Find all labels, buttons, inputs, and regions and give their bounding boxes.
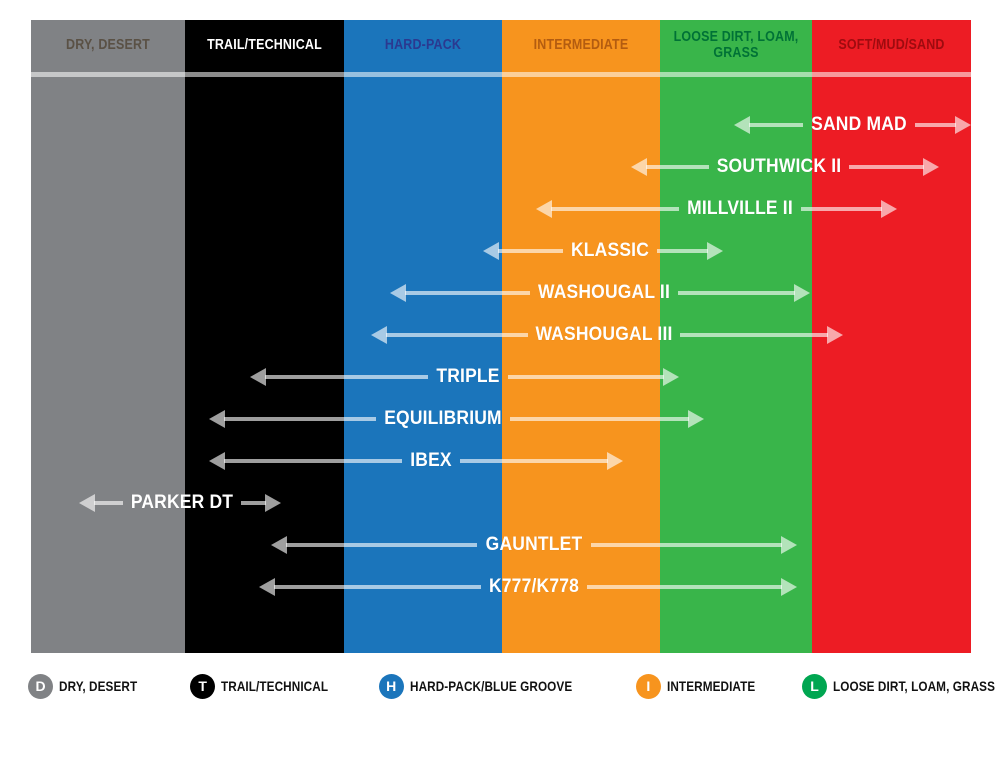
arrow-shaft-left: [551, 207, 679, 211]
tire-range-row: WASHOUGAL II: [390, 279, 810, 307]
arrow-left-icon: [209, 410, 225, 428]
column-header-0: DRY, DESERT: [31, 20, 185, 72]
column-header-1: TRAIL/TECHNICAL: [185, 20, 344, 72]
tire-range-row: IBEX: [209, 447, 623, 475]
arrow-shaft-left: [224, 417, 376, 421]
column-header-label: LOOSE DIRT, LOAM, GRASS: [671, 30, 802, 61]
legend-item-d[interactable]: DDRY, DESERT: [28, 674, 152, 699]
arrow-right-icon: [707, 242, 723, 260]
tire-range-row: EQUILIBRIUM: [209, 405, 704, 433]
arrow-shaft-right: [241, 501, 266, 505]
arrow-left-icon: [734, 116, 750, 134]
arrow-shaft-right: [915, 123, 956, 127]
arrow-left-icon: [483, 242, 499, 260]
arrow-shaft-right: [801, 207, 882, 211]
tire-range-row: KLASSIC: [483, 237, 723, 265]
arrow-left-icon: [390, 284, 406, 302]
arrow-shaft-left: [286, 543, 477, 547]
tire-model-label: K777/K778: [489, 576, 579, 598]
tire-model-label: TRIPLE: [436, 366, 499, 388]
arrow-left-icon: [209, 452, 225, 470]
arrow-right-icon: [607, 452, 623, 470]
arrow-shaft-right: [510, 417, 689, 421]
arrow-shaft-left: [386, 333, 528, 337]
tire-model-label: SOUTHWICK II: [717, 156, 842, 178]
tire-model-label: WASHOUGAL III: [535, 324, 672, 346]
tire-range-row: K777/K778: [259, 573, 797, 601]
arrow-shaft-right: [678, 291, 795, 295]
tire-model-label: GAUNTLET: [486, 534, 583, 556]
column-header-label: INTERMEDIATE: [513, 38, 649, 54]
arrow-right-icon: [955, 116, 971, 134]
arrow-right-icon: [923, 158, 939, 176]
legend-label: HARD-PACK/BLUE GROOVE: [410, 678, 572, 694]
legend-badge-icon: D: [28, 674, 53, 699]
arrow-left-icon: [259, 578, 275, 596]
legend-badge-icon: T: [190, 674, 215, 699]
arrow-shaft-left: [224, 459, 402, 463]
arrow-shaft-right: [508, 375, 664, 379]
tire-range-row: SOUTHWICK II: [631, 153, 939, 181]
arrow-left-icon: [271, 536, 287, 554]
arrow-shaft-right: [657, 249, 708, 253]
arrow-shaft-left: [405, 291, 530, 295]
arrow-right-icon: [663, 368, 679, 386]
column-header-label: TRAIL/TECHNICAL: [196, 38, 333, 54]
legend-item-i[interactable]: IINTERMEDIATE: [636, 674, 772, 699]
column-header-3: INTERMEDIATE: [502, 20, 660, 72]
chart-header-row: DRY, DESERTTRAIL/TECHNICALHARD-PACKINTER…: [31, 20, 971, 72]
arrow-right-icon: [881, 200, 897, 218]
tire-range-row: SAND MAD: [734, 111, 971, 139]
legend-badge-icon: H: [379, 674, 404, 699]
arrow-right-icon: [827, 326, 843, 344]
arrow-right-icon: [688, 410, 704, 428]
legend-label: LOOSE DIRT, LOAM, GRASS: [833, 678, 995, 694]
arrow-shaft-right: [587, 585, 782, 589]
arrow-shaft-left: [498, 249, 563, 253]
legend-label: INTERMEDIATE: [667, 678, 755, 694]
arrow-left-icon: [79, 494, 95, 512]
arrow-right-icon: [265, 494, 281, 512]
tire-range-row: MILLVILLE II: [536, 195, 897, 223]
arrow-shaft-left: [265, 375, 428, 379]
tire-model-label: MILLVILLE II: [687, 198, 793, 220]
tire-model-label: KLASSIC: [571, 240, 649, 262]
arrow-left-icon: [250, 368, 266, 386]
legend-label: TRAIL/TECHNICAL: [221, 678, 328, 694]
terrain-chart: DRY, DESERTTRAIL/TECHNICALHARD-PACKINTER…: [31, 20, 971, 653]
legend-label: DRY, DESERT: [59, 678, 137, 694]
arrow-left-icon: [371, 326, 387, 344]
legend-badge-icon: L: [802, 674, 827, 699]
column-header-2: HARD-PACK: [344, 20, 502, 72]
column-header-label: DRY, DESERT: [42, 38, 174, 54]
arrow-shaft-right: [849, 165, 924, 169]
tire-model-label: WASHOUGAL II: [538, 282, 670, 304]
arrow-shaft-left: [94, 501, 123, 505]
arrow-right-icon: [781, 536, 797, 554]
tire-model-label: IBEX: [410, 450, 452, 472]
arrow-shaft-right: [591, 543, 782, 547]
legend-item-t[interactable]: TTRAIL/TECHNICAL: [190, 674, 349, 699]
column-header-label: SOFT/MUD/SAND: [823, 38, 960, 54]
column-header-label: HARD-PACK: [355, 38, 491, 54]
arrow-shaft-right: [460, 459, 608, 463]
chart-arrow-rows: SAND MADSOUTHWICK IIMILLVILLE IIKLASSICW…: [31, 77, 971, 653]
arrow-right-icon: [794, 284, 810, 302]
tire-range-row: GAUNTLET: [271, 531, 797, 559]
tire-range-row: TRIPLE: [250, 363, 679, 391]
arrow-left-icon: [631, 158, 647, 176]
tire-range-row: PARKER DT: [79, 489, 281, 517]
tire-range-row: WASHOUGAL III: [371, 321, 843, 349]
tire-model-label: EQUILIBRIUM: [384, 408, 502, 430]
tire-model-label: PARKER DT: [131, 492, 233, 514]
legend-item-h[interactable]: HHARD-PACK/BLUE GROOVE: [379, 674, 603, 699]
legend-item-l[interactable]: LLOOSE DIRT, LOAM, GRASS: [802, 674, 1000, 699]
arrow-shaft-left: [646, 165, 709, 169]
legend-badge-icon: I: [636, 674, 661, 699]
column-header-4: LOOSE DIRT, LOAM, GRASS: [660, 20, 812, 72]
arrow-shaft-left: [749, 123, 803, 127]
arrow-left-icon: [536, 200, 552, 218]
chart-legend: DDRY, DESERTTTRAIL/TECHNICALHHARD-PACK/B…: [28, 669, 972, 703]
arrow-shaft-right: [680, 333, 828, 337]
arrow-right-icon: [781, 578, 797, 596]
arrow-shaft-left: [274, 585, 481, 589]
tire-model-label: SAND MAD: [811, 114, 907, 136]
column-header-5: SOFT/MUD/SAND: [812, 20, 971, 72]
